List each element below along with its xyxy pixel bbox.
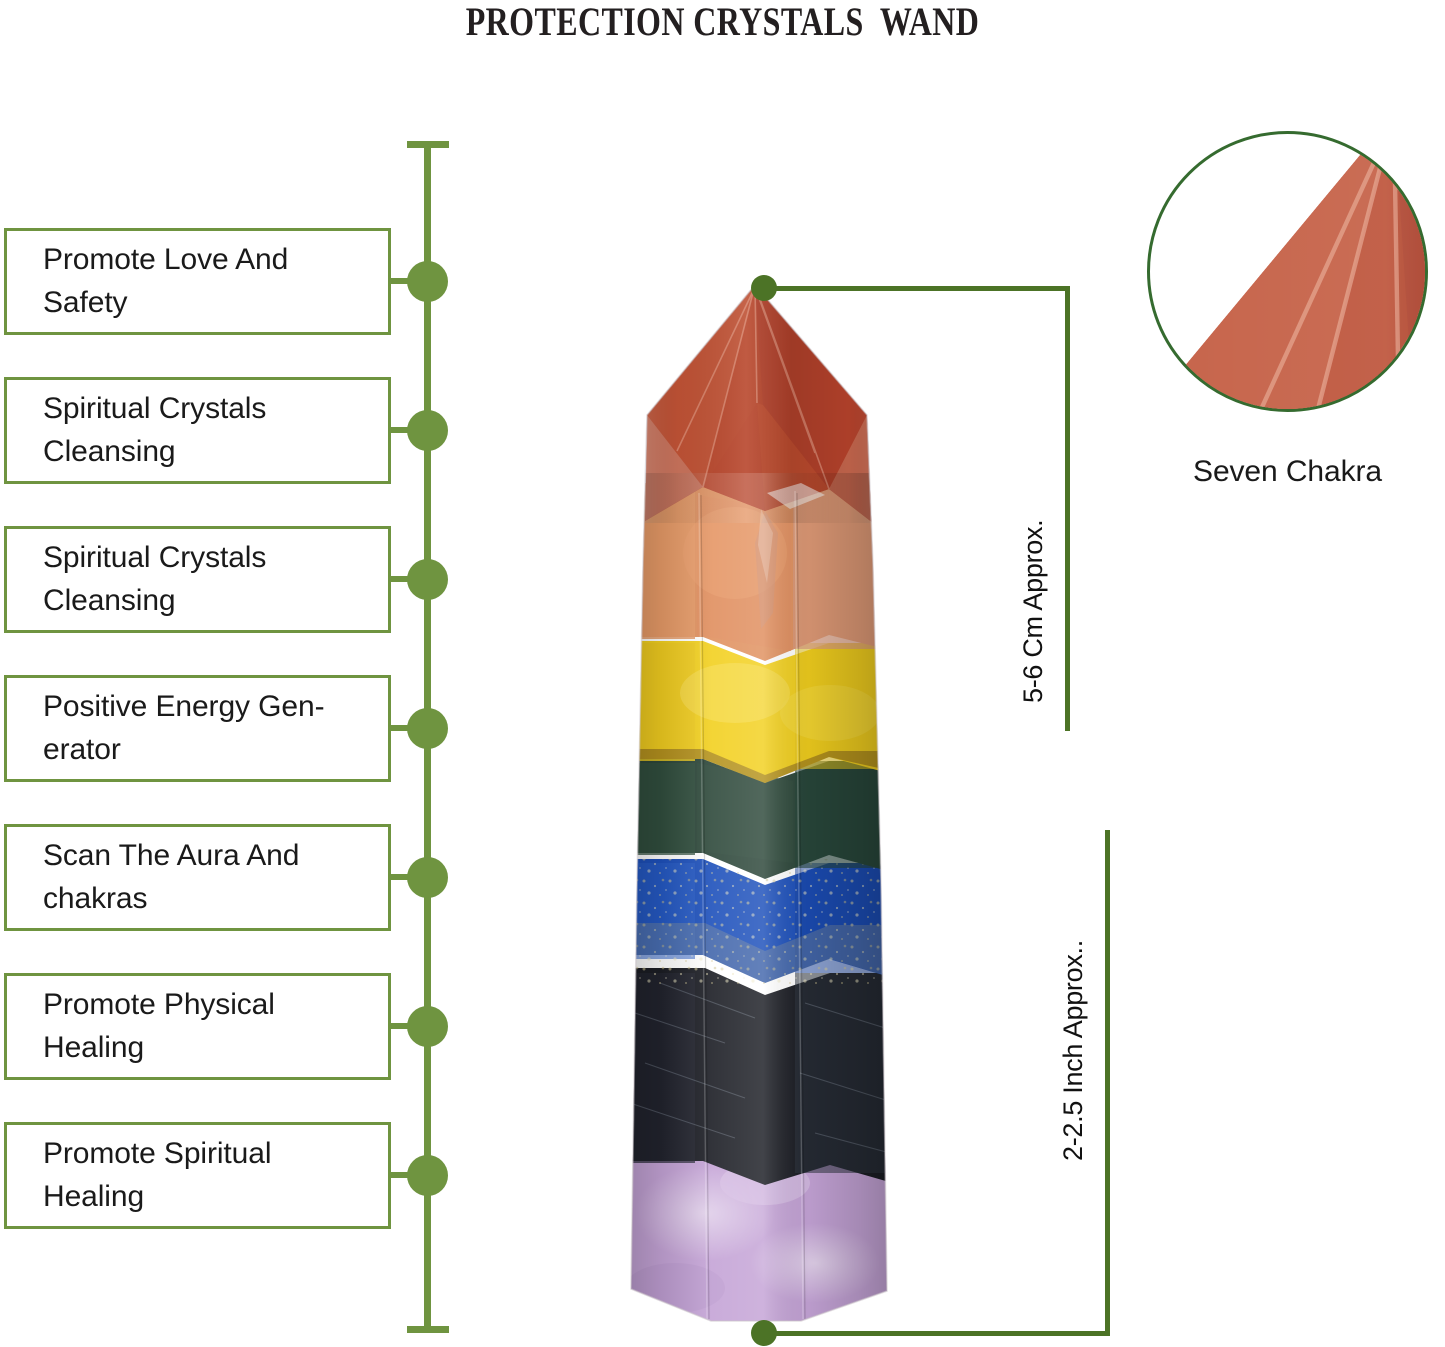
crystal-wand-image	[615, 283, 900, 1325]
spine-dot-7[interactable]	[407, 1155, 448, 1196]
feature-label-6: Promote Physical Healing	[7, 984, 387, 1069]
infographic-canvas: PROTECTION CRYSTALS WAND Promote Love An…	[0, 0, 1445, 1347]
dimension-label-imperial: 2-2.5 Inch Approx..	[1058, 940, 1089, 1161]
feature-label-1: Promote Love And Safety	[7, 239, 387, 324]
spine-cap-bottom	[407, 1326, 449, 1333]
spine-dot-3[interactable]	[407, 559, 448, 600]
feature-label-5: Scan The Aura And chakras	[7, 835, 387, 920]
callout-line-base-horizontal	[770, 1331, 1110, 1336]
spine-dot-2[interactable]	[407, 410, 448, 451]
feature-label-2: Spiritual Crystals Cleansing	[7, 388, 387, 473]
feature-box-2[interactable]: Spiritual Crystals Cleansing	[4, 377, 391, 484]
feature-list: Promote Love And Safety Spiritual Crysta…	[0, 0, 470, 1347]
feature-label-4: Positive Energy Gen- erator	[7, 686, 387, 771]
feature-box-5[interactable]: Scan The Aura And chakras	[4, 824, 391, 931]
feature-box-4[interactable]: Positive Energy Gen- erator	[4, 675, 391, 782]
feature-box-3[interactable]: Spiritual Crystals Cleansing	[4, 526, 391, 633]
inset-wand-zoom	[1147, 131, 1428, 412]
feature-box-7[interactable]: Promote Spiritual Healing	[4, 1122, 391, 1229]
feature-box-6[interactable]: Promote Physical Healing	[4, 973, 391, 1080]
spine-dot-6[interactable]	[407, 1006, 448, 1047]
spine-dot-4[interactable]	[407, 708, 448, 749]
feature-label-7: Promote Spiritual Healing	[7, 1133, 387, 1218]
seven-chakra-inset	[1147, 131, 1428, 412]
spine-dot-1[interactable]	[407, 261, 448, 302]
dimension-line-metric	[1065, 286, 1070, 731]
spine-dot-5[interactable]	[407, 857, 448, 898]
callout-line-tip-horizontal	[770, 286, 1070, 291]
dimension-line-imperial	[1105, 830, 1110, 1331]
feature-label-3: Spiritual Crystals Cleansing	[7, 537, 387, 622]
dimension-label-metric: 5-6 Cm Approx.	[1018, 520, 1049, 703]
feature-box-1[interactable]: Promote Love And Safety	[4, 228, 391, 335]
inset-caption: Seven Chakra	[1147, 455, 1428, 489]
